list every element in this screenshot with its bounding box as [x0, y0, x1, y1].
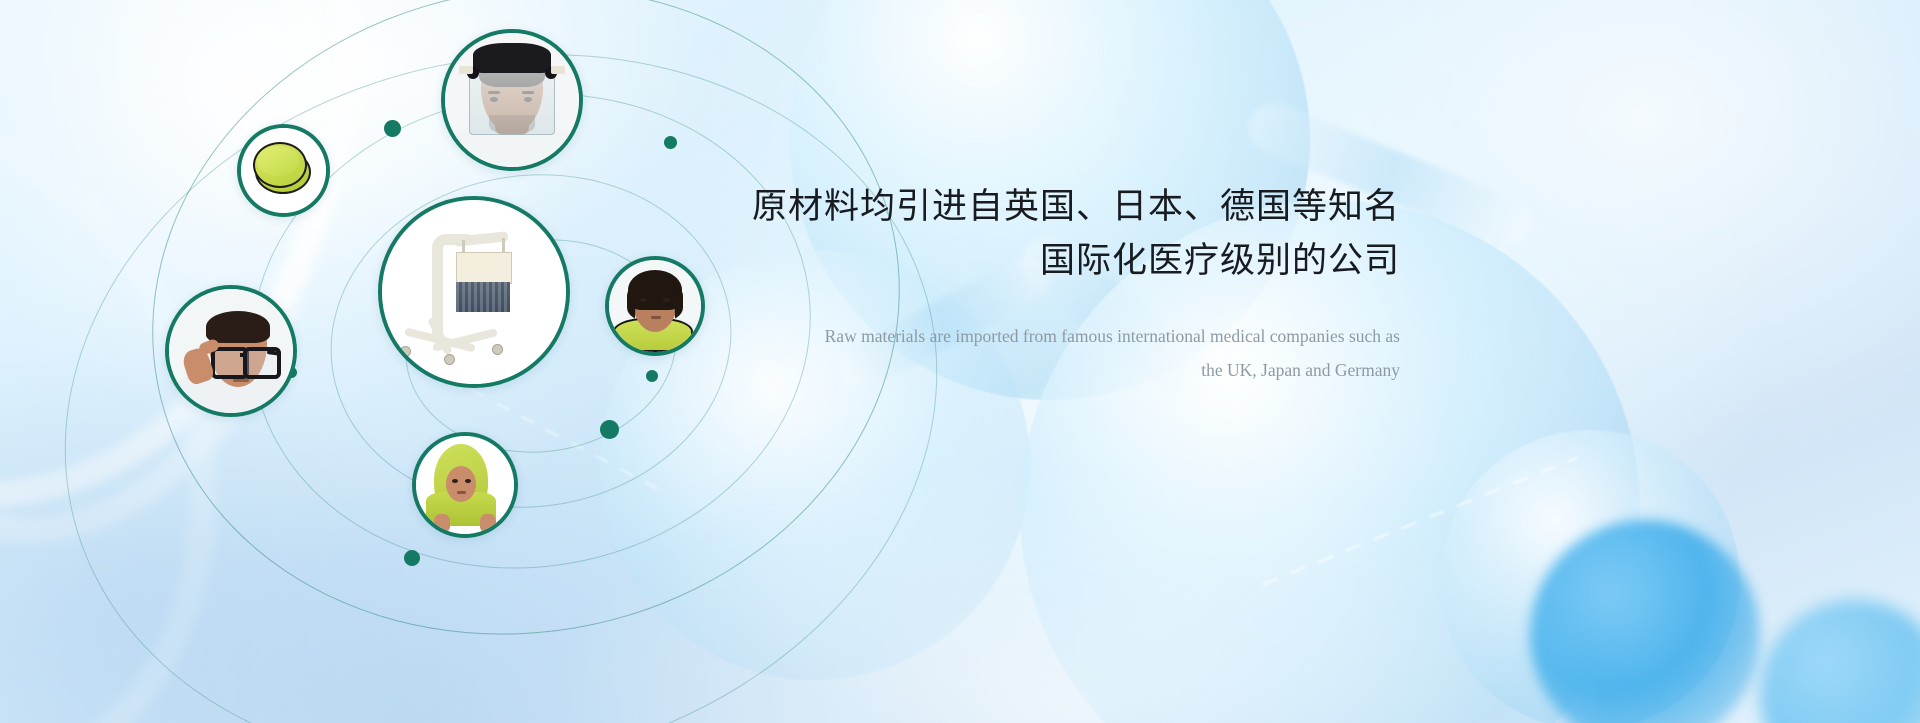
bubble-protective-hood-model[interactable] — [412, 432, 518, 538]
bubble-mobile-xray-barrier[interactable] — [378, 196, 570, 388]
banner-copy: 原材料均引进自英国、日本、德国等知名 国际化医疗级别的公司 Raw materi… — [700, 180, 1400, 387]
protective-hood-model-photo — [416, 436, 514, 534]
hero-banner: 原材料均引进自英国、日本、德国等知名 国际化医疗级别的公司 Raw materi… — [0, 0, 1920, 723]
lead-glasses-bridge — [240, 353, 246, 357]
subtitle-line-1: Raw materials are imported from famous i… — [700, 319, 1400, 353]
mobile-xray-barrier-photo — [382, 200, 566, 384]
protective-cap-photo — [241, 128, 326, 213]
face-shield-headband — [473, 43, 551, 73]
orbit-node-6 — [404, 550, 420, 566]
bubble-face-shield-technician[interactable] — [441, 29, 583, 171]
face-shield-technician-photo — [445, 33, 579, 167]
orbit-node-4 — [646, 370, 658, 382]
subtitle: Raw materials are imported from famous i… — [700, 319, 1400, 387]
orbit-node-2 — [664, 136, 677, 149]
barrier-wheel — [400, 346, 411, 357]
orbit-node-1 — [384, 120, 401, 137]
bubble-thyroid-collar-model[interactable] — [605, 256, 705, 356]
headline-line-2: 国际化医疗级别的公司 — [700, 234, 1400, 288]
barrier-acrylic-panel — [456, 252, 512, 284]
bubble-lead-glasses-technician[interactable] — [165, 285, 297, 417]
barrier-wheel — [492, 344, 503, 355]
lead-glasses-technician-photo — [169, 289, 293, 413]
orbit-node-5 — [600, 420, 619, 439]
subtitle-line-2: the UK, Japan and Germany — [700, 353, 1400, 387]
face-shield-visor — [469, 71, 555, 135]
hood-face-opening — [446, 466, 476, 502]
bubble-protective-cap-product[interactable] — [237, 124, 330, 217]
thyroid-collar-model-photo — [609, 260, 701, 352]
barrier-wheel — [444, 354, 455, 365]
headline-line-1: 原材料均引进自英国、日本、德国等知名 — [700, 180, 1400, 234]
